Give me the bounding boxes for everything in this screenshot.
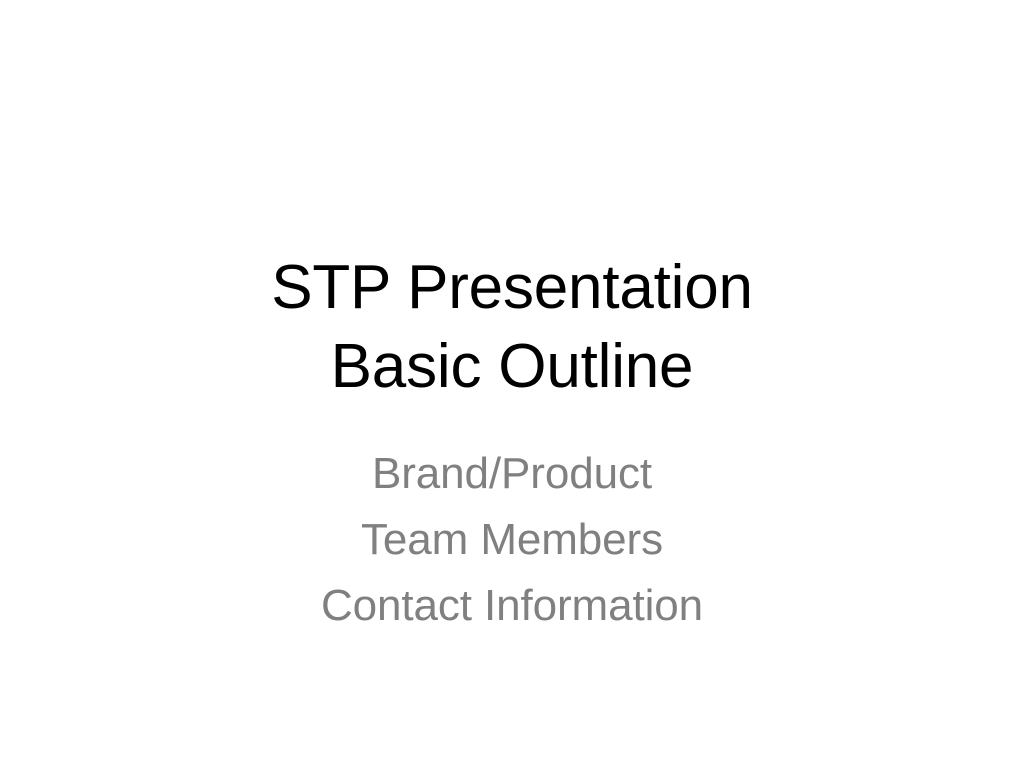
slide-title-line-2: Basic Outline <box>0 327 1024 406</box>
slide-title-line-1: STP Presentation <box>0 248 1024 327</box>
slide-subtitle: Brand/Product Team Members Contact Infor… <box>0 441 1024 639</box>
slide-subtitle-line-1: Brand/Product <box>0 441 1024 507</box>
slide-subtitle-line-2: Team Members <box>0 507 1024 573</box>
slide-subtitle-line-3: Contact Information <box>0 573 1024 639</box>
slide-title: STP Presentation Basic Outline <box>0 248 1024 406</box>
presentation-slide: STP Presentation Basic Outline Brand/Pro… <box>0 0 1024 768</box>
